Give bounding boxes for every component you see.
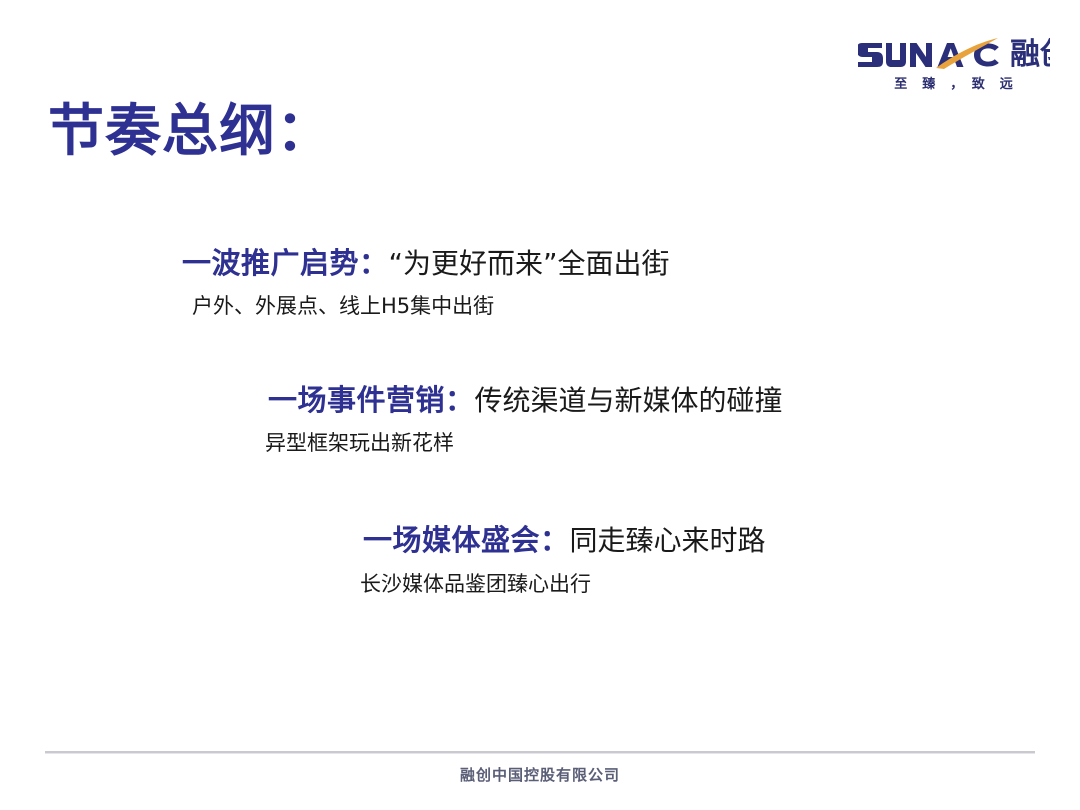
logo-tagline: 至 臻 ， 致 远 [858,73,1050,92]
content-block-1: 一波推广启势：“为更好而来”全面出街 户外、外展点、线上H5集中出街 [182,245,670,321]
block-2-heading-rest: 传统渠道与新媒体的碰撞 [475,384,783,417]
block-3-heading-rest: 同走臻心来时路 [570,524,766,557]
presentation-slide: 融创 至 臻 ， 致 远 节奏总纲： 一波推广启势：“为更好而来”全面出街 户外… [0,0,1080,810]
footer-divider [45,751,1035,754]
block-2-subtitle: 异型框架玩出新花样 [265,430,783,457]
block-2-heading-lead: 一场事件营销： [268,383,475,417]
sunac-logo: 融创 至 臻 ， 致 远 [858,33,1050,91]
block-3-heading: 一场媒体盛会：同走臻心来时路 [363,522,766,558]
block-1-subtitle: 户外、外展点、线上H5集中出街 [192,293,670,320]
footer-company-name: 融创中国控股有限公司 [0,764,1080,785]
block-3-heading-lead: 一场媒体盛会： [363,523,570,557]
page-title: 节奏总纲： [48,100,333,164]
content-block-3: 一场媒体盛会：同走臻心来时路 长沙媒体品鉴团臻心出行 [363,522,766,599]
content-block-2: 一场事件营销：传统渠道与新媒体的碰撞 异型框架玩出新花样 [268,382,783,458]
block-1-heading: 一波推广启势：“为更好而来”全面出街 [182,245,670,281]
block-3-subtitle: 长沙媒体品鉴团臻心出行 [360,571,766,598]
logo-chinese-name: 融创 [1010,37,1050,72]
block-1-heading-lead: 一波推广启势： [182,246,389,280]
block-2-heading: 一场事件营销：传统渠道与新媒体的碰撞 [268,382,783,418]
sunac-logo-mark: 融创 [858,33,1050,73]
block-1-heading-rest: “为更好而来”全面出街 [389,247,670,280]
